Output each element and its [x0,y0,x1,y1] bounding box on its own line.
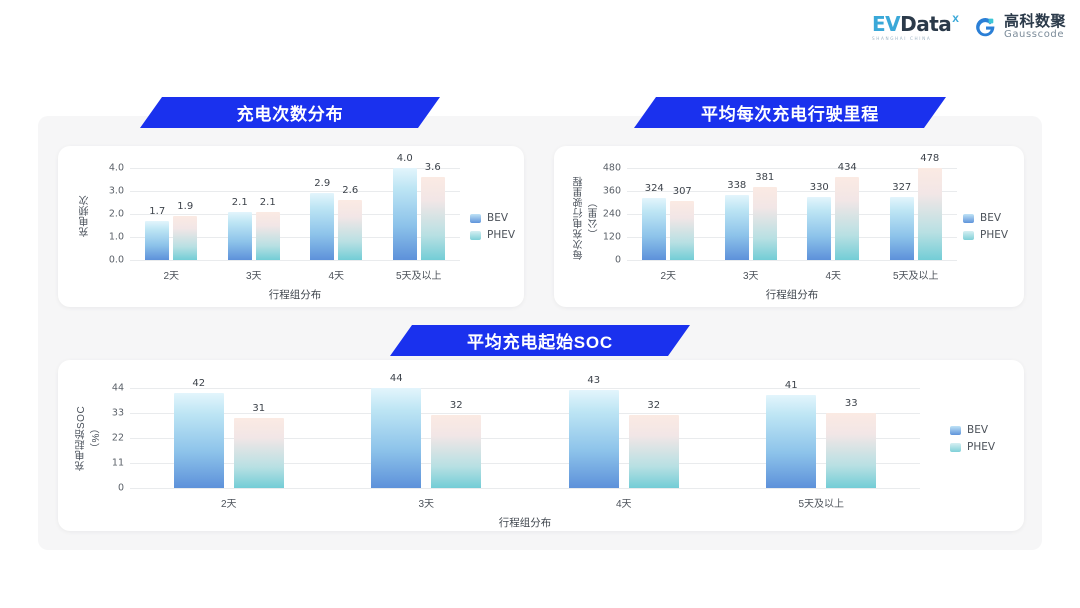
bar-value-label: 44 [390,373,403,384]
x-axis-label: 行程组分布 [499,515,552,530]
bar-bev [569,390,619,488]
chart-legend: BEVPHEV [950,424,995,453]
y-axis-tick: 11 [112,458,124,469]
bar-value-label: 31 [252,403,265,414]
x-axis-tick: 4天 [616,495,632,510]
bar-phev [431,415,481,488]
x-axis-tick: 3天 [418,495,434,510]
y-axis-tick: 0 [118,483,124,494]
bar-phev [629,415,679,488]
gridline [130,388,920,389]
legend-swatch-icon [950,426,961,435]
bar-bev [766,395,816,488]
bar-phev [234,418,284,488]
chart-title-text: 平均每次充电行驶里程 [701,100,879,125]
bar-value-label: 43 [587,375,600,386]
legend-item-bev[interactable]: BEV [950,424,995,436]
chart-title-banner-charging-frequency: 充电次数分布 [140,97,440,128]
chart-title-banner-avg-start-soc: 平均充电起始SOC [390,325,690,356]
legend-label: PHEV [967,441,995,453]
slide-page: EVData x SHANGHAI CHINA 高科数聚 Gausscode 充… [0,0,1080,608]
chart-title-text: 平均充电起始SOC [467,328,613,353]
legend-label: BEV [967,424,988,436]
bar-phev [826,413,876,488]
bar-value-label: 32 [647,400,660,411]
gridline [130,488,920,489]
y-axis-label-line: （%） [89,388,104,488]
y-axis-tick: 22 [112,433,124,444]
y-axis-tick: 44 [112,383,124,394]
bar-bev [174,393,224,488]
chart-title-text: 充电次数分布 [237,100,344,125]
y-axis-label: 充电起始SOC（%） [74,388,104,488]
legend-swatch-icon [950,443,961,452]
legend-item-phev[interactable]: PHEV [950,441,995,453]
bar-bev [371,388,421,488]
bar-value-label: 41 [785,380,798,391]
bar-value-label: 33 [845,398,858,409]
bar-value-label: 42 [192,378,205,389]
y-axis-label-line: 充电起始SOC [74,388,89,488]
x-axis-tick: 2天 [221,495,237,510]
x-axis-tick: 5天及以上 [798,495,844,510]
bar-value-label: 32 [450,400,463,411]
chart-avg-start-soc: 充电起始SOC（%）01122334442312天44323天43324天413… [0,0,1080,608]
y-axis-tick: 33 [112,408,124,419]
plot-area: 01122334442312天44323天43324天41335天及以上行程组分… [130,388,920,488]
chart-title-banner-avg-distance: 平均每次充电行驶里程 [634,97,946,128]
